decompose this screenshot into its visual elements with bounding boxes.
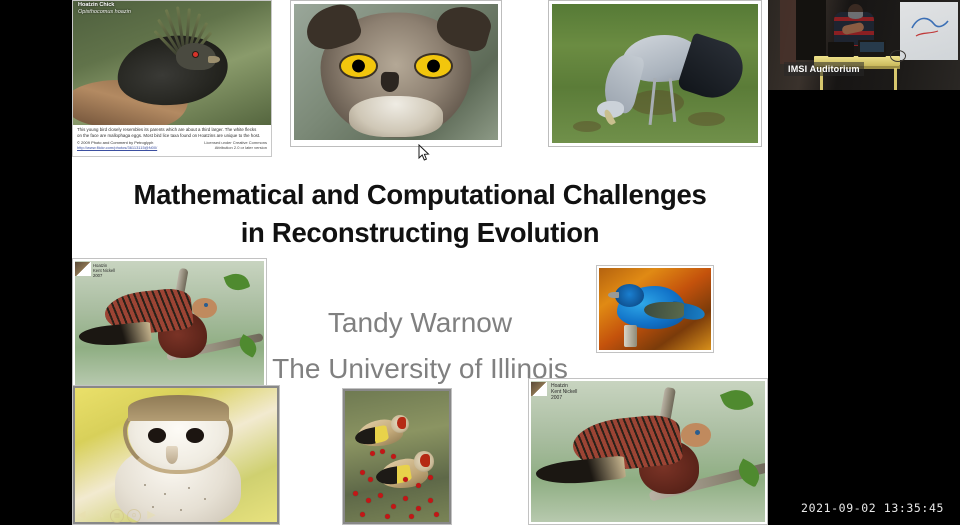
- hoatzin-chick-image: Hoatzin Chick Opisthocomus hoazin: [73, 1, 271, 125]
- photo-indigo-bunting: [596, 265, 714, 353]
- bunting-head-shape: [615, 284, 644, 307]
- coiled-cable: [890, 50, 906, 62]
- indigo-bunting-image: [599, 268, 711, 350]
- mouse-cursor-icon: [418, 144, 430, 162]
- webcam-room-label: IMSI Auditorium: [784, 62, 864, 76]
- barn-owl-eye-left: [148, 428, 166, 443]
- dark-panel: [796, 0, 826, 60]
- credit-line-3: 2007: [551, 395, 577, 401]
- table-leg-right: [894, 68, 897, 90]
- hoatzin-adult-left-image: Hoatzin Kent Nickell 2007: [75, 261, 264, 385]
- photo-hoatzin-adult-left: Hoatzin Kent Nickell 2007: [72, 258, 267, 388]
- photo-hoatzin-adult-right: Hoatzin Kent Nickell 2007: [528, 378, 768, 525]
- bunting-perch-shape: [624, 325, 637, 346]
- owl-eye-right: [414, 53, 453, 79]
- photo-great-horned-owl: [290, 0, 502, 147]
- next-slide-icon[interactable]: ▶: [144, 508, 159, 523]
- great-horned-owl-image: [294, 4, 498, 140]
- projected-content: [908, 12, 952, 42]
- photo-barn-owl: [72, 385, 280, 525]
- title-line-2: in Reconstructing Evolution: [72, 214, 768, 252]
- pen-icon[interactable]: ✎: [92, 508, 107, 523]
- note-line-2: on the face are mallophaga eggs. Most bi…: [77, 133, 267, 139]
- photo-european-goldfinches: [342, 388, 452, 525]
- hoatzin-adult-right-image: Hoatzin Kent Nickell 2007: [531, 381, 765, 522]
- credit-line-3: 2007: [93, 273, 115, 278]
- hoatzin-chick-caption: Hoatzin Chick Opisthocomus hoazin: [75, 2, 225, 20]
- hoatzin-right-credit: Hoatzin Kent Nickell 2007: [551, 383, 577, 402]
- photo-hoatzin-chick: Hoatzin Chick Opisthocomus hoazin This y…: [72, 0, 272, 157]
- zoom-icon[interactable]: ⊙: [127, 509, 141, 523]
- caption-species: Opisthocomus hoazin: [78, 9, 225, 16]
- hoatzin-chick-note-block: This young bird closely resembles its pa…: [73, 125, 271, 157]
- goldfinches-image: [345, 391, 449, 522]
- slide-title: Mathematical and Computational Challenge…: [72, 176, 768, 252]
- presenter-toolbar[interactable]: ◀ ✎ ▤ ⊙ ▶: [74, 508, 159, 523]
- barn-owl-beak-shape: [166, 446, 178, 465]
- chick-beak-shape: [208, 56, 220, 63]
- chick-eye-shape: [192, 51, 199, 58]
- slide-menu-icon[interactable]: ▤: [110, 509, 124, 523]
- previous-slide-icon[interactable]: ◀: [74, 508, 89, 523]
- photo-credit-url[interactable]: http://www.flickr.com/photos/36113115@N0…: [77, 145, 157, 150]
- license-line-2: Attribution 2.0 or later version: [215, 145, 267, 150]
- owl-eye-left: [339, 53, 378, 79]
- barn-owl-crown-shape: [128, 395, 229, 422]
- hoatzin-left-credit: Hoatzin Kent Nickell 2007: [93, 263, 115, 279]
- laptop-left: [828, 42, 854, 57]
- webcam-pip[interactable]: IMSI Auditorium: [768, 0, 960, 90]
- speaker-face-mask: [848, 12, 863, 19]
- blue-crane-image: [552, 4, 758, 143]
- owl-breast-shape: [349, 96, 443, 137]
- caption-title: Hoatzin Chick: [78, 2, 225, 9]
- wall-pillar: [780, 0, 796, 64]
- title-line-1: Mathematical and Computational Challenge…: [72, 176, 768, 214]
- barn-owl-eye-right: [186, 428, 204, 443]
- screen-recording-frame: Hoatzin Chick Opisthocomus hoazin This y…: [0, 0, 960, 525]
- note-line-1: This young bird closely resembles its pa…: [77, 127, 267, 133]
- barn-owl-image: [75, 388, 277, 522]
- credit-mark-icon: [75, 262, 91, 276]
- photo-blue-crane: [548, 0, 762, 147]
- credit-mark-icon: [531, 382, 547, 396]
- laptop-right: [858, 40, 886, 57]
- bunting-beak-shape: [608, 292, 619, 298]
- recording-timestamp: 2021-09-02 13:35:45: [801, 501, 944, 515]
- presentation-slide[interactable]: Hoatzin Chick Opisthocomus hoazin This y…: [72, 0, 768, 525]
